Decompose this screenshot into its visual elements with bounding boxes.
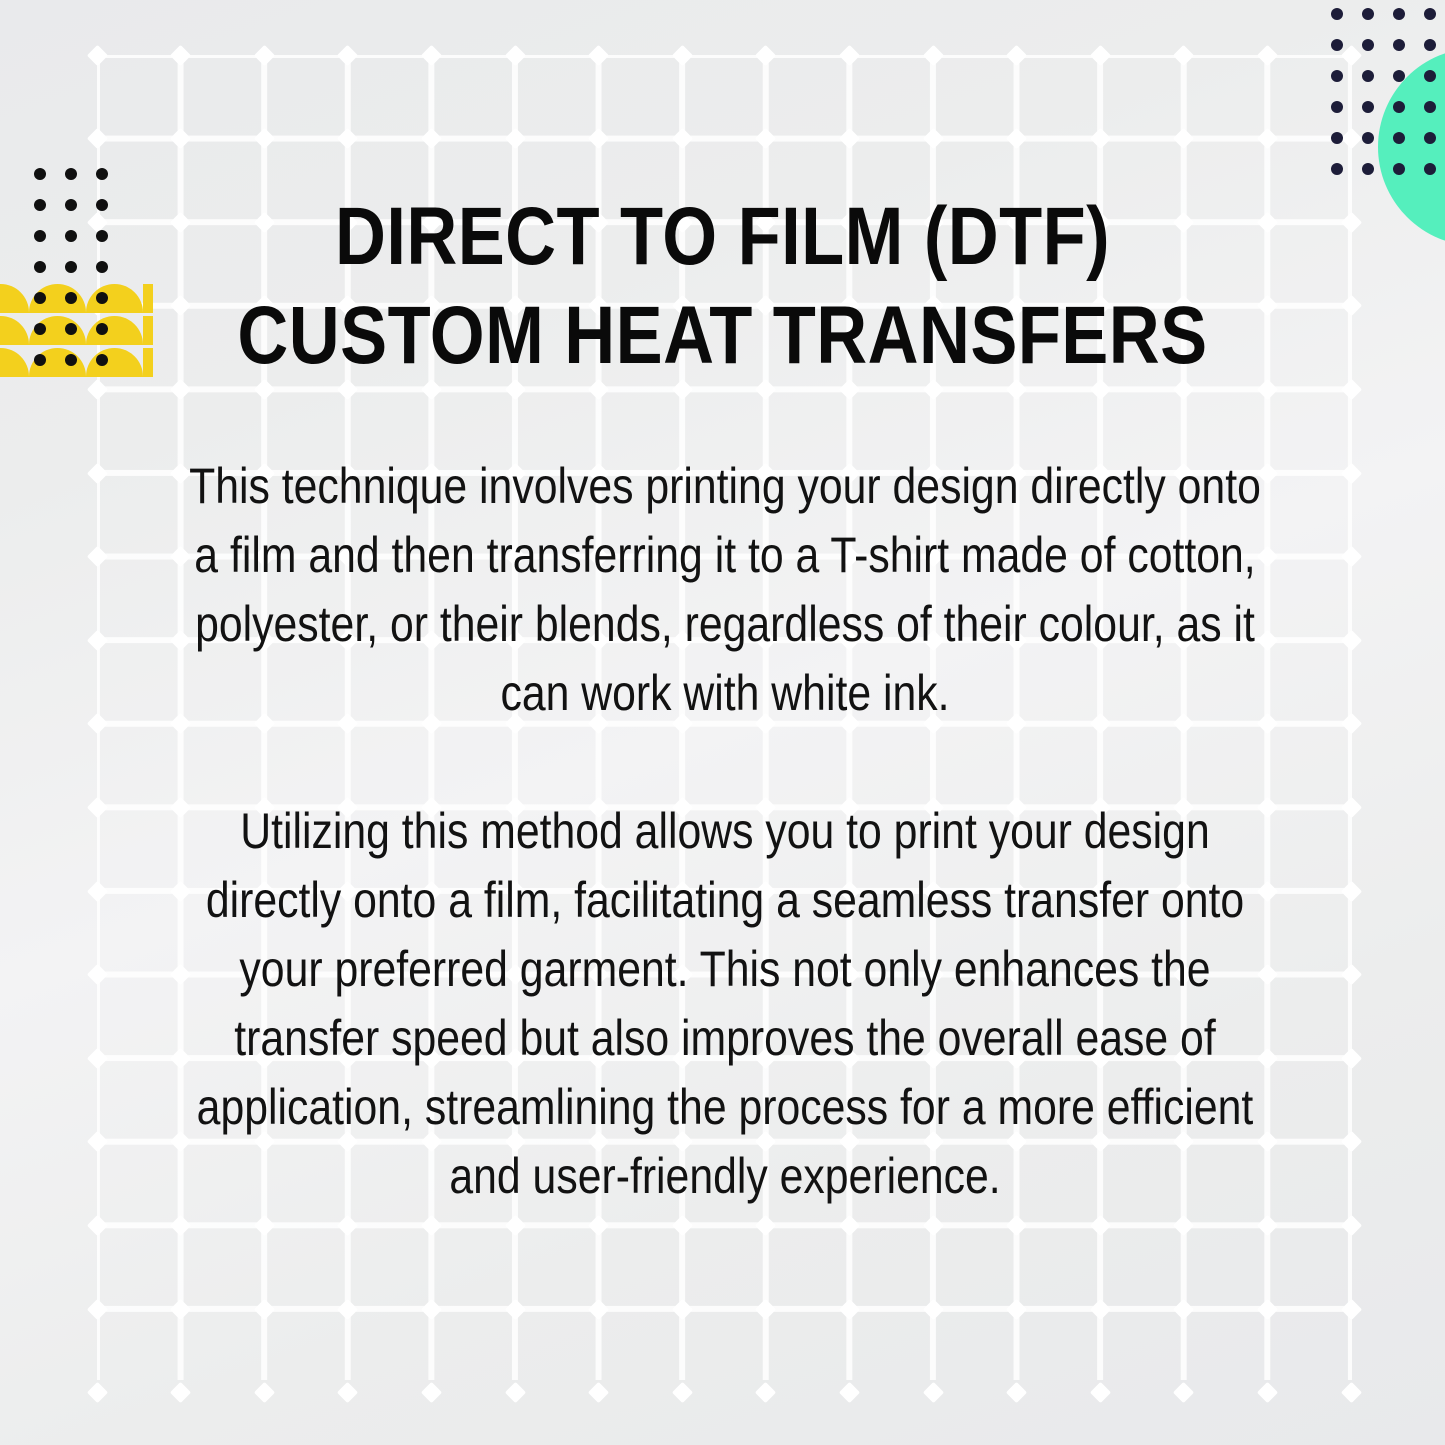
grid-node-diamond xyxy=(1173,1215,1194,1236)
decorative-dot xyxy=(1362,70,1374,82)
grid-node-diamond xyxy=(1006,44,1027,65)
grid-node-diamond xyxy=(755,44,776,65)
decorative-dot xyxy=(1331,70,1343,82)
decorative-dot xyxy=(96,199,108,211)
grid-node-diamond xyxy=(672,1298,693,1319)
grid-node-diamond xyxy=(588,1298,609,1319)
grid-node-diamond xyxy=(86,1048,107,1069)
grid-node-diamond xyxy=(254,1215,275,1236)
grid-node-diamond xyxy=(421,1298,442,1319)
grid-node-diamond xyxy=(86,630,107,651)
grid-node-diamond xyxy=(1257,44,1278,65)
grid-node-diamond xyxy=(421,1215,442,1236)
grid-node-diamond xyxy=(86,1131,107,1152)
grid-node-diamond xyxy=(755,1215,776,1236)
grid-node-diamond xyxy=(922,1215,943,1236)
decorative-dot xyxy=(34,292,46,304)
decorative-dot xyxy=(1424,132,1436,144)
decorative-dot xyxy=(1331,101,1343,113)
grid-node-diamond xyxy=(504,1215,525,1236)
grid-node-diamond xyxy=(1340,1215,1361,1236)
grid-node-diamond xyxy=(421,1382,442,1403)
grid-node-diamond xyxy=(86,546,107,567)
grid-node-diamond xyxy=(1006,1298,1027,1319)
decorative-dot xyxy=(1393,132,1405,144)
grid-node-diamond xyxy=(1340,1298,1361,1319)
paragraph-spacer xyxy=(187,728,1263,797)
grid-node-diamond xyxy=(1257,1298,1278,1319)
yellow-semicircle xyxy=(143,284,153,313)
grid-node-diamond xyxy=(922,1382,943,1403)
decorative-dot xyxy=(65,292,77,304)
decorative-dot xyxy=(65,261,77,273)
decorative-dot xyxy=(34,199,46,211)
grid-node-diamond xyxy=(504,1298,525,1319)
decorative-dot xyxy=(65,323,77,335)
grid-node-diamond xyxy=(86,1298,107,1319)
decorative-dot xyxy=(65,199,77,211)
decorative-dot xyxy=(96,230,108,242)
decorative-dot xyxy=(1393,39,1405,51)
grid-node-diamond xyxy=(672,1382,693,1403)
grid-node-diamond xyxy=(86,128,107,149)
decorative-dot xyxy=(1424,101,1436,113)
decorative-dot xyxy=(1331,132,1343,144)
grid-node-diamond xyxy=(337,1382,358,1403)
body-copy: This technique involves printing your de… xyxy=(187,452,1263,1211)
black-dot-grid-decoration xyxy=(34,168,127,385)
grid-node-diamond xyxy=(1340,212,1361,233)
grid-node-diamond xyxy=(86,880,107,901)
grid-node-diamond xyxy=(1340,880,1361,901)
grid-node-diamond xyxy=(86,44,107,65)
grid-node-diamond xyxy=(672,44,693,65)
decorative-dot xyxy=(96,354,108,366)
grid-node-diamond xyxy=(1090,1382,1111,1403)
decorative-dot xyxy=(1424,163,1436,175)
grid-node-diamond xyxy=(337,1298,358,1319)
grid-node-diamond xyxy=(839,128,860,149)
grid-node-diamond xyxy=(1340,1382,1361,1403)
grid-node-diamond xyxy=(170,1382,191,1403)
grid-node-diamond xyxy=(337,128,358,149)
decorative-dot xyxy=(65,354,77,366)
grid-node-diamond xyxy=(588,1382,609,1403)
decorative-dot xyxy=(1331,8,1343,20)
poster-canvas: DIRECT TO FILM (DTF) CUSTOM HEAT TRANSFE… xyxy=(0,0,1445,1445)
grid-node-diamond xyxy=(1006,1382,1027,1403)
grid-node-diamond xyxy=(337,44,358,65)
page-title-line-1: DIRECT TO FILM (DTF) xyxy=(179,187,1267,286)
page-title-line-2: CUSTOM HEAT TRANSFERS xyxy=(179,286,1267,385)
grid-node-diamond xyxy=(86,797,107,818)
decorative-dot xyxy=(1393,101,1405,113)
grid-node-diamond xyxy=(86,462,107,483)
grid-node-diamond xyxy=(1340,295,1361,316)
grid-node-diamond xyxy=(1090,128,1111,149)
decorative-dot xyxy=(1424,39,1436,51)
decorative-dot xyxy=(1393,70,1405,82)
grid-node-diamond xyxy=(755,1298,776,1319)
grid-node-diamond xyxy=(170,1298,191,1319)
yellow-semicircle xyxy=(0,284,29,313)
decorative-dot xyxy=(65,168,77,180)
yellow-semicircle xyxy=(143,348,153,377)
decorative-dot xyxy=(34,168,46,180)
grid-node-diamond xyxy=(504,44,525,65)
grid-node-diamond xyxy=(1090,1298,1111,1319)
grid-node-diamond xyxy=(421,128,442,149)
navy-dot-grid-decoration xyxy=(1331,8,1445,194)
grid-node-diamond xyxy=(1173,44,1194,65)
grid-node-diamond xyxy=(839,1215,860,1236)
grid-node-diamond xyxy=(1340,546,1361,567)
grid-node-diamond xyxy=(254,44,275,65)
grid-node-diamond xyxy=(1340,713,1361,734)
grid-node-diamond xyxy=(170,1215,191,1236)
decorative-dot xyxy=(34,261,46,273)
paragraph-2: Utilizing this method allows you to prin… xyxy=(187,797,1263,1211)
grid-node-diamond xyxy=(1340,797,1361,818)
grid-node-diamond xyxy=(755,1382,776,1403)
grid-node-diamond xyxy=(1340,630,1361,651)
grid-node-diamond xyxy=(1090,1215,1111,1236)
grid-node-diamond xyxy=(1173,1382,1194,1403)
grid-node-diamond xyxy=(254,1298,275,1319)
grid-node-diamond xyxy=(839,44,860,65)
grid-node-diamond xyxy=(170,44,191,65)
decorative-dot xyxy=(96,168,108,180)
grid-node-diamond xyxy=(1340,379,1361,400)
decorative-dot xyxy=(1331,163,1343,175)
yellow-semicircle xyxy=(0,316,29,345)
grid-node-diamond xyxy=(588,128,609,149)
decorative-dot xyxy=(1331,39,1343,51)
decorative-dot xyxy=(1362,163,1374,175)
decorative-dot xyxy=(96,292,108,304)
grid-node-diamond xyxy=(839,1382,860,1403)
yellow-semicircle xyxy=(0,348,29,377)
grid-node-diamond xyxy=(86,964,107,985)
grid-node-diamond xyxy=(755,128,776,149)
grid-node-diamond xyxy=(1090,44,1111,65)
paragraph-1: This technique involves printing your de… xyxy=(187,452,1263,728)
grid-node-diamond xyxy=(1006,1215,1027,1236)
grid-node-diamond xyxy=(421,44,442,65)
decorative-dot xyxy=(96,261,108,273)
grid-node-diamond xyxy=(922,128,943,149)
grid-node-diamond xyxy=(672,128,693,149)
grid-node-diamond xyxy=(1340,1131,1361,1152)
decorative-dot xyxy=(34,230,46,242)
grid-node-diamond xyxy=(337,1215,358,1236)
decorative-dot xyxy=(1424,70,1436,82)
decorative-dot xyxy=(1424,8,1436,20)
yellow-semicircle xyxy=(143,316,153,345)
decorative-dot xyxy=(34,323,46,335)
grid-node-diamond xyxy=(922,44,943,65)
grid-node-diamond xyxy=(86,1382,107,1403)
grid-node-diamond xyxy=(254,1382,275,1403)
decorative-dot xyxy=(65,230,77,242)
grid-node-diamond xyxy=(588,44,609,65)
decorative-dot xyxy=(1393,8,1405,20)
decorative-dot xyxy=(1362,39,1374,51)
grid-node-diamond xyxy=(1340,964,1361,985)
grid-node-diamond xyxy=(1257,1215,1278,1236)
grid-node-diamond xyxy=(86,1215,107,1236)
grid-node-diamond xyxy=(1257,1382,1278,1403)
grid-node-diamond xyxy=(1173,1298,1194,1319)
grid-node-diamond xyxy=(588,1215,609,1236)
grid-node-diamond xyxy=(1340,1048,1361,1069)
decorative-dot xyxy=(1362,132,1374,144)
grid-node-diamond xyxy=(922,1298,943,1319)
decorative-dot xyxy=(1393,163,1405,175)
grid-node-diamond xyxy=(1340,462,1361,483)
grid-node-diamond xyxy=(839,1298,860,1319)
decorative-dot xyxy=(1362,8,1374,20)
decorative-dot xyxy=(34,354,46,366)
page-title: DIRECT TO FILM (DTF) CUSTOM HEAT TRANSFE… xyxy=(179,187,1267,385)
decorative-dot xyxy=(1362,101,1374,113)
grid-node-diamond xyxy=(254,128,275,149)
decorative-dot xyxy=(96,323,108,335)
grid-node-diamond xyxy=(170,128,191,149)
grid-node-diamond xyxy=(86,713,107,734)
grid-node-diamond xyxy=(1173,128,1194,149)
grid-node-diamond xyxy=(1006,128,1027,149)
grid-node-diamond xyxy=(504,1382,525,1403)
grid-node-diamond xyxy=(504,128,525,149)
grid-node-diamond xyxy=(1257,128,1278,149)
grid-node-diamond xyxy=(672,1215,693,1236)
